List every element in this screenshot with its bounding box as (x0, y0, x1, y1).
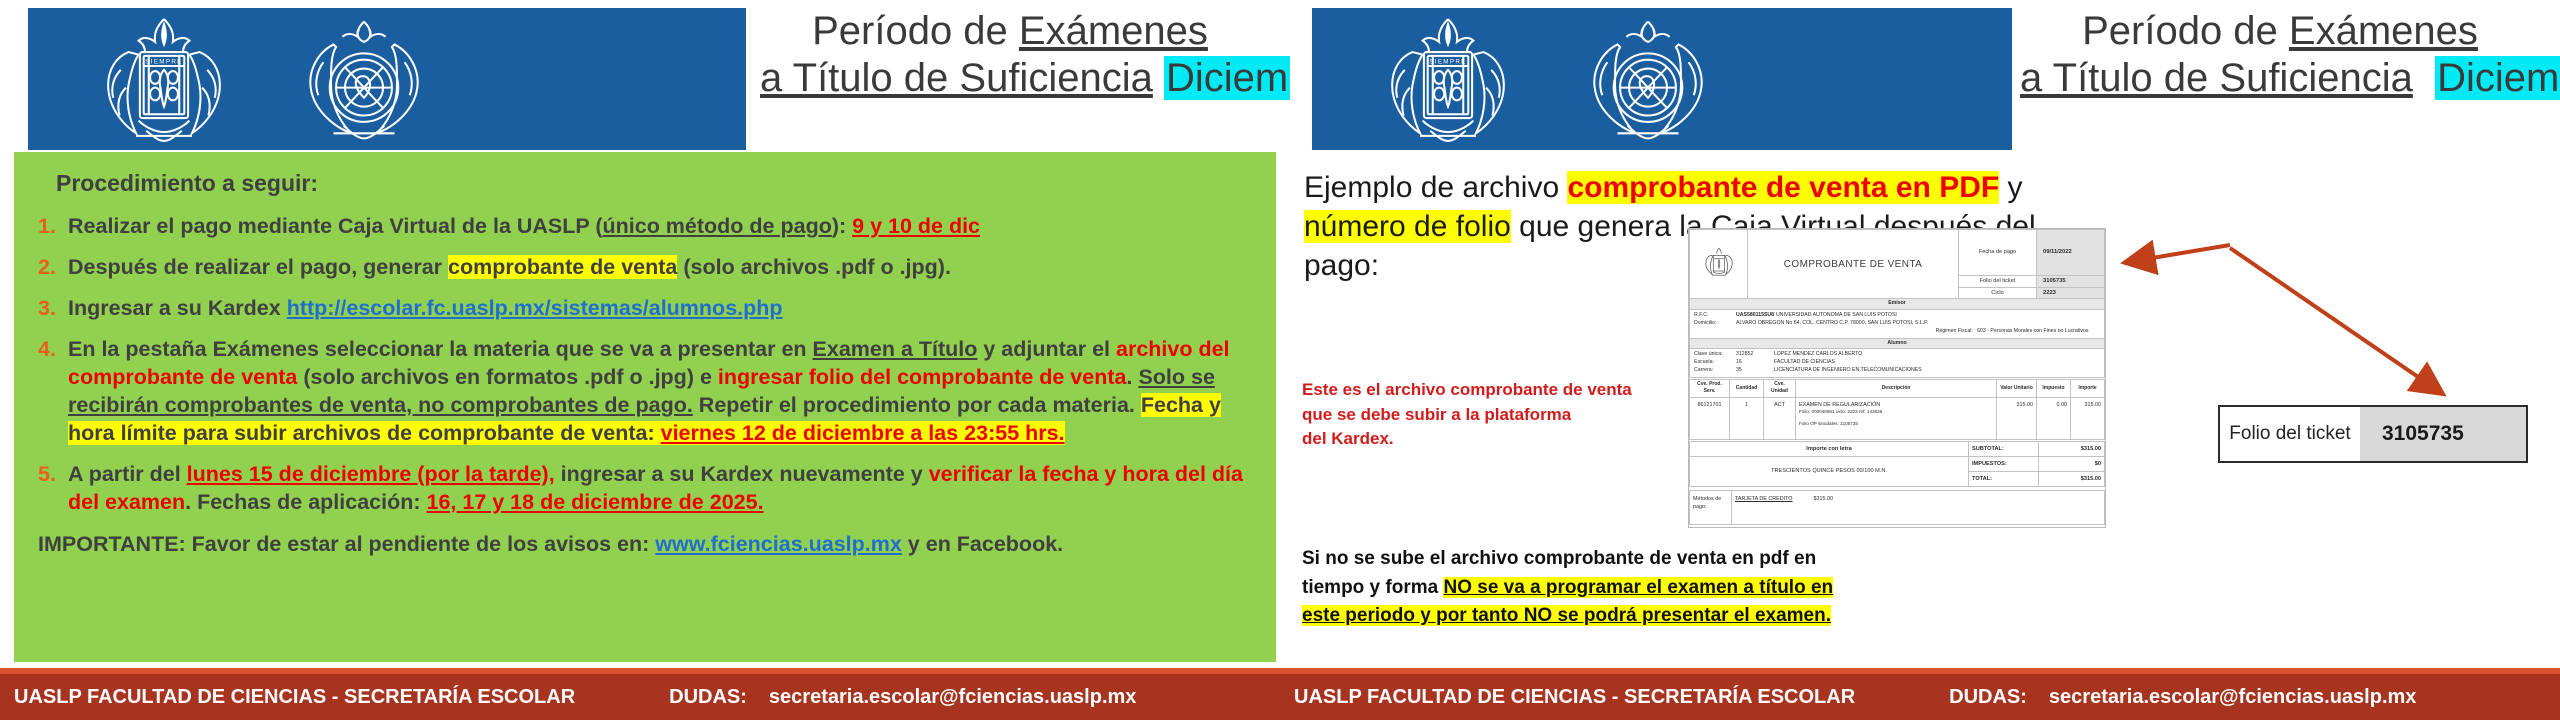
doc-rfc-code: UAS580115SU8 (1736, 312, 1776, 320)
doc-domicilio-label: Domicilio: (1694, 320, 1736, 328)
procedure-item-4-run-4: (solo archivos en formatos .pdf o .jpg) … (297, 365, 718, 389)
footer-dudas-label: DUDAS: (1949, 686, 2027, 709)
folio-callout: Folio del ticket 3105735 (2218, 405, 2528, 463)
footer-email[interactable]: secretaria.escolar@fciencias.uaslp.mx (2049, 686, 2417, 709)
procedure-item-4-run-10: viernes 12 de diciembre a las 23:55 hrs. (661, 421, 1065, 445)
doc-regimen-value: 603 - Personas Morales con Fines no Lucr… (1977, 328, 2088, 334)
doc-rfc-label: R.F.C. (1694, 312, 1736, 320)
procedure-item-4-run-6: . (1126, 365, 1138, 389)
title-suficiencia: a Título de Suficiencia (760, 56, 1153, 100)
doc-subtotal-value: $315.00 (2039, 441, 2105, 456)
doc-carrera-value: LICENCIATURA DE INGENIERO EN TELECOMUNIC… (1774, 367, 1922, 373)
procedure-item-5-run-0: A partir del (68, 462, 187, 486)
doc-pay-method: TARJETA DE CREDITO (1735, 496, 1793, 502)
doc-header-table: COMPROBANTE DE VENTA Fecha de pago 09/11… (1689, 229, 2105, 299)
doc-alumno-nombre: LOPEZ MENDEZ CARLOS ALBERTO (1774, 351, 1862, 357)
doc-regimen-label: Régimen Fiscal: (1936, 328, 1973, 334)
example-intro-run-2: y (1999, 171, 2022, 204)
comprobante-de-venta-preview: COMPROBANTE DE VENTA Fecha de pago 09/11… (1688, 228, 2106, 528)
procedure-item-1-run-3: 9 y 10 de dic (852, 214, 980, 238)
svg-text:SIEMPRE: SIEMPRE (145, 59, 182, 66)
procedure-item-5-run-2: ingresar a su Kardex nuevamente y (555, 462, 929, 486)
doc-col-importe: Importe (2071, 379, 2105, 397)
doc-payment-row: Métodos de pago: TARJETA DE CREDITO $315… (1690, 490, 2105, 524)
header-banner-left: SIEMPRE (28, 8, 746, 150)
panel-procedure: SIEMPRE (0, 0, 1290, 720)
procedure-item-4-run-1: Examen a Título (813, 337, 978, 361)
doc-letters-value: TRESCIENTOS QUINCE PESOS 00/100 M.N. (1690, 456, 1969, 486)
example-note-text: Este es el archivo comprobante de ventaq… (1302, 378, 1722, 452)
doc-col-valor: Valor Unitario (1997, 379, 2037, 397)
doc-domicilio-line: Domicilio:ALVARO OBREGON No 64, COL. CEN… (1694, 320, 2100, 328)
procedure-item-text: En la pestaña Exámenes seleccionar la ma… (68, 336, 1258, 448)
doc-impuestos-value: $0 (2039, 456, 2105, 471)
doc-cell-impuesto: 0.00 (2037, 397, 2071, 439)
procedure-item-2: 2.Después de realizar el pago, generar c… (32, 254, 1258, 282)
important-suffix: y en Facebook. (902, 532, 1063, 556)
doc-total-value: $315.00 (2039, 471, 2105, 486)
footer-organization: UASLP FACULTAD DE CIENCIAS - SECRETARÍA … (1280, 686, 1855, 709)
doc-items-table: Cve. Prod. Serv. Cantidad Cve. Unidad De… (1689, 379, 2105, 440)
doc-domicilio-value: ALVARO OBREGON No 64, COL. CENTRO C.P. 7… (1736, 320, 1928, 326)
procedure-item-4-run-0: En la pestaña Exámenes seleccionar la ma… (68, 337, 813, 361)
doc-total-label: TOTAL: (1969, 471, 2039, 486)
important-note: IMPORTANTE: Favor de estar al pendiente … (38, 532, 1258, 557)
doc-alumno-row: Escuela:16FACULTAD DE CIENCIAS (1694, 359, 2100, 367)
doc-pay-amount: $315.00 (1813, 496, 1833, 502)
doc-carrera-label: Carrera: (1694, 367, 1736, 375)
procedure-item-5-run-5: 16, 17 y 18 de diciembre de 2025. (427, 490, 764, 514)
doc-cell-valor: 315.00 (1997, 397, 2037, 439)
footer-organization: UASLP FACULTAD DE CIENCIAS - SECRETARÍA … (0, 686, 575, 709)
facultad-ciencias-seal-icon (1584, 14, 1712, 146)
title-line-2: a Título de Suficiencia Diciembre/2025 (760, 55, 1260, 102)
title-line-1: Período de Exámenes (2020, 8, 2540, 55)
procedure-item-number: 3. (32, 295, 68, 323)
doc-cell-unidad: ACT (1764, 397, 1796, 439)
page-title-left: Período de Exámenes a Título de Suficien… (760, 8, 1260, 102)
procedure-item-1-run-0: Realizar el pago mediante Caja Virtual d… (68, 214, 603, 238)
title-period-badge: Diciembre/2025 (2435, 56, 2560, 100)
title-line-1: Período de Exámenes (760, 8, 1260, 55)
doc-regimen-line: Régimen Fiscal: 603 - Personas Morales c… (1694, 328, 2100, 336)
important-prefix: IMPORTANTE: Favor de estar al pendiente … (38, 532, 655, 556)
title-examenes: Exámenes (1019, 9, 1208, 53)
procedure-item-number: 1. (32, 213, 68, 241)
page-title-right: Período de Exámenes a Título de Suficien… (2020, 8, 2540, 102)
doc-emisor-band: Emisor (1689, 299, 2105, 310)
procedure-heading: Procedimiento a seguir: (56, 170, 1258, 197)
doc-desc-sub1: Folio: 000040561 ciclo: 2223 ref: 143636 (1799, 409, 1993, 416)
doc-total-row: TRESCIENTOS QUINCE PESOS 00/100 M.N. IMP… (1690, 456, 2105, 471)
doc-clave-label: Clave única: (1694, 351, 1736, 359)
uaslp-seal-icon: SIEMPRE (1384, 14, 1512, 146)
doc-title: COMPROBANTE DE VENTA (1748, 230, 1959, 299)
procedure-item-5-run-1: lunes 15 de diciembre (por la tarde), (187, 462, 555, 486)
doc-ciclo-label: Ciclo (1959, 287, 2037, 299)
doc-rfc-line: R.F.C.UAS580115SU8UNIVERSIDAD AUTONOMA D… (1694, 312, 2100, 320)
footer-email[interactable]: secretaria.escolar@fciencias.uaslp.mx (769, 686, 1137, 709)
title-prefix: Período de (2082, 9, 2289, 53)
doc-pay-label: Métodos de pago: (1690, 490, 1732, 524)
slide-root: SIEMPRE (0, 0, 2560, 720)
doc-alumno-info: Clave única:312852LOPEZ MENDEZ CARLOS AL… (1689, 349, 2105, 377)
doc-cell-importe: 315.00 (2071, 397, 2105, 439)
folio-callout-value: 3105735 (2360, 407, 2526, 461)
panel-example: SIEMPRE (1290, 0, 2560, 720)
procedure-item-5-run-4: . Fechas de aplicación: (185, 490, 426, 514)
doc-header-row: COMPROBANTE DE VENTA Fecha de pago 09/11… (1690, 230, 2105, 276)
doc-clave-value: 312852 (1736, 351, 1774, 359)
doc-escuela-label: Escuela: (1694, 359, 1736, 367)
title-suficiencia: a Título de Suficiencia (2020, 56, 2413, 100)
doc-escuela-key: 16 (1736, 359, 1774, 367)
procedure-item-1: 1.Realizar el pago mediante Caja Virtual… (32, 213, 1258, 241)
doc-fecha-pago-label: Fecha de pago (1959, 230, 2037, 276)
example-note-line-1: que se debe subir a la plataforma (1302, 403, 1722, 428)
doc-rfc-name: UNIVERSIDAD AUTONOMA DE SAN LUIS POTOSI (1776, 312, 1897, 318)
example-warning-text: Si no se sube el archivo comprobante de … (1302, 545, 1862, 631)
procedure-item-2-run-2: (solo archivos .pdf o .jpg). (677, 255, 951, 279)
doc-cell-cve: 86121701 (1690, 397, 1730, 439)
folio-callout-label: Folio del ticket (2220, 407, 2360, 461)
facultad-ciencias-seal-icon (300, 14, 428, 146)
doc-fecha-pago-value: 09/11/2022 (2037, 230, 2105, 276)
procedure-item-number: 5. (32, 461, 68, 489)
title-line-2: a Título de Suficiencia Diciembre/2025 (2020, 55, 2540, 102)
doc-alumno-row: Carrera:35LICENCIATURA DE INGENIERO EN T… (1694, 367, 2100, 375)
doc-col-cve-prod: Cve. Prod. Serv. (1690, 379, 1730, 397)
svg-text:SIEMPRE: SIEMPRE (1429, 59, 1466, 66)
doc-carrera-key: 35 (1736, 367, 1774, 375)
procedure-item-5: 5.A partir del lunes 15 de diciembre (po… (32, 461, 1258, 517)
example-note-line-0: Este es el archivo comprobante de venta (1302, 378, 1722, 403)
doc-escuela-value: FACULTAD DE CIENCIAS (1774, 359, 1835, 365)
doc-pay-detail: TARJETA DE CREDITO $315.00 (1732, 490, 2105, 524)
doc-col-descripcion: Descripción (1796, 379, 1997, 397)
procedure-item-4: 4.En la pestaña Exámenes seleccionar la … (32, 336, 1258, 448)
doc-folio-ticket-label: Folio del ticket (1959, 276, 2037, 288)
title-examenes: Exámenes (2289, 9, 2478, 53)
procedure-item-text: Ingresar a su Kardex http://escolar.fc.u… (68, 295, 1258, 323)
procedure-item-number: 2. (32, 254, 68, 282)
doc-cell-descripcion: EXAMEN DE REGULARIZACIÓN Folio: 00004056… (1796, 397, 1997, 439)
procedure-item-1-run-2: ): (832, 214, 852, 238)
procedure-item-2-run-0: Después de realizar el pago, generar (68, 255, 448, 279)
footer-bar: UASLP FACULTAD DE CIENCIAS - SECRETARÍA … (0, 668, 2560, 720)
doc-col-cantidad: Cantidad (1730, 379, 1764, 397)
procedure-item-text: Realizar el pago mediante Caja Virtual d… (68, 213, 1258, 241)
example-intro-run-1: comprobante de venta en PDF (1567, 171, 1999, 204)
example-intro-run-0: Ejemplo de archivo (1304, 171, 1567, 204)
doc-total-row: Importe con letra SUBTOTAL: $315.00 (1690, 441, 2105, 456)
doc-desc-sub2: Folio OP sinodales: 3105735 (1799, 421, 1993, 428)
doc-col-impuesto: Impuesto (2037, 379, 2071, 397)
procedure-list: 1.Realizar el pago mediante Caja Virtual… (32, 213, 1258, 516)
doc-ciclo-value: 2223 (2037, 287, 2105, 299)
doc-desc-main: EXAMEN DE REGULARIZACIÓN (1799, 401, 1993, 409)
procedure-box: Procedimiento a seguir: 1.Realizar el pa… (14, 152, 1276, 662)
example-note-line-2: del Kardex. (1302, 427, 1722, 452)
doc-alumno-band: Alumno (1689, 339, 2105, 350)
header-banner-right: SIEMPRE (1312, 8, 2012, 150)
doc-letters-band: Importe con letra (1690, 441, 1969, 456)
footer-segment-right: UASLP FACULTAD DE CIENCIAS - SECRETARÍA … (1280, 686, 2560, 709)
procedure-item-2-run-1: comprobante de venta (448, 255, 677, 279)
fciencias-website-link[interactable]: www.fciencias.uaslp.mx (655, 532, 902, 556)
doc-folio-ticket-value: 3105735 (2037, 276, 2105, 288)
procedure-item-4-run-2: y adjuntar el (977, 337, 1116, 361)
procedure-item-number: 4. (32, 336, 68, 364)
table-row: 86121701 1 ACT EXAMEN DE REGULARIZACIÓN … (1690, 397, 2105, 439)
doc-emisor-info: R.F.C.UAS580115SU8UNIVERSIDAD AUTONOMA D… (1689, 310, 2105, 338)
procedure-item-3-run-0: Ingresar a su Kardex (68, 296, 287, 320)
footer-dudas-label: DUDAS: (669, 686, 747, 709)
procedure-item-text: Después de realizar el pago, generar com… (68, 254, 1258, 282)
uaslp-seal-icon: SIEMPRE (100, 14, 228, 146)
doc-subtotal-label: SUBTOTAL: (1969, 441, 2039, 456)
title-prefix: Período de (812, 9, 1019, 53)
doc-payment-table: Métodos de pago: TARJETA DE CREDITO $315… (1689, 490, 2105, 525)
procedure-item-4-run-5: ingresar folio del comprobante de venta (718, 365, 1127, 389)
doc-impuestos-label: IMPUESTOS: (1969, 456, 2039, 471)
procedure-item-3-run-1[interactable]: http://escolar.fc.uaslp.mx/sistemas/alum… (287, 296, 783, 320)
doc-items-header: Cve. Prod. Serv. Cantidad Cve. Unidad De… (1690, 379, 2105, 397)
procedure-item-text: A partir del lunes 15 de diciembre (por … (68, 461, 1258, 517)
example-intro-run-3: número de folio (1304, 210, 1511, 243)
doc-cell-cantidad: 1 (1730, 397, 1764, 439)
procedure-item-1-run-1: único método de pago (603, 214, 832, 238)
doc-uaslp-seal-icon (1690, 230, 1748, 299)
doc-totals-table: Importe con letra SUBTOTAL: $315.00 TRES… (1689, 441, 2105, 487)
footer-segment-left: UASLP FACULTAD DE CIENCIAS - SECRETARÍA … (0, 686, 1280, 709)
procedure-item-4-run-8: Repetir el procedimiento por cada materi… (693, 393, 1141, 417)
doc-col-cve-unidad: Cve. Unidad (1764, 379, 1796, 397)
doc-alumno-row: Clave única:312852LOPEZ MENDEZ CARLOS AL… (1694, 351, 2100, 359)
procedure-item-3: 3.Ingresar a su Kardex http://escolar.fc… (32, 295, 1258, 323)
